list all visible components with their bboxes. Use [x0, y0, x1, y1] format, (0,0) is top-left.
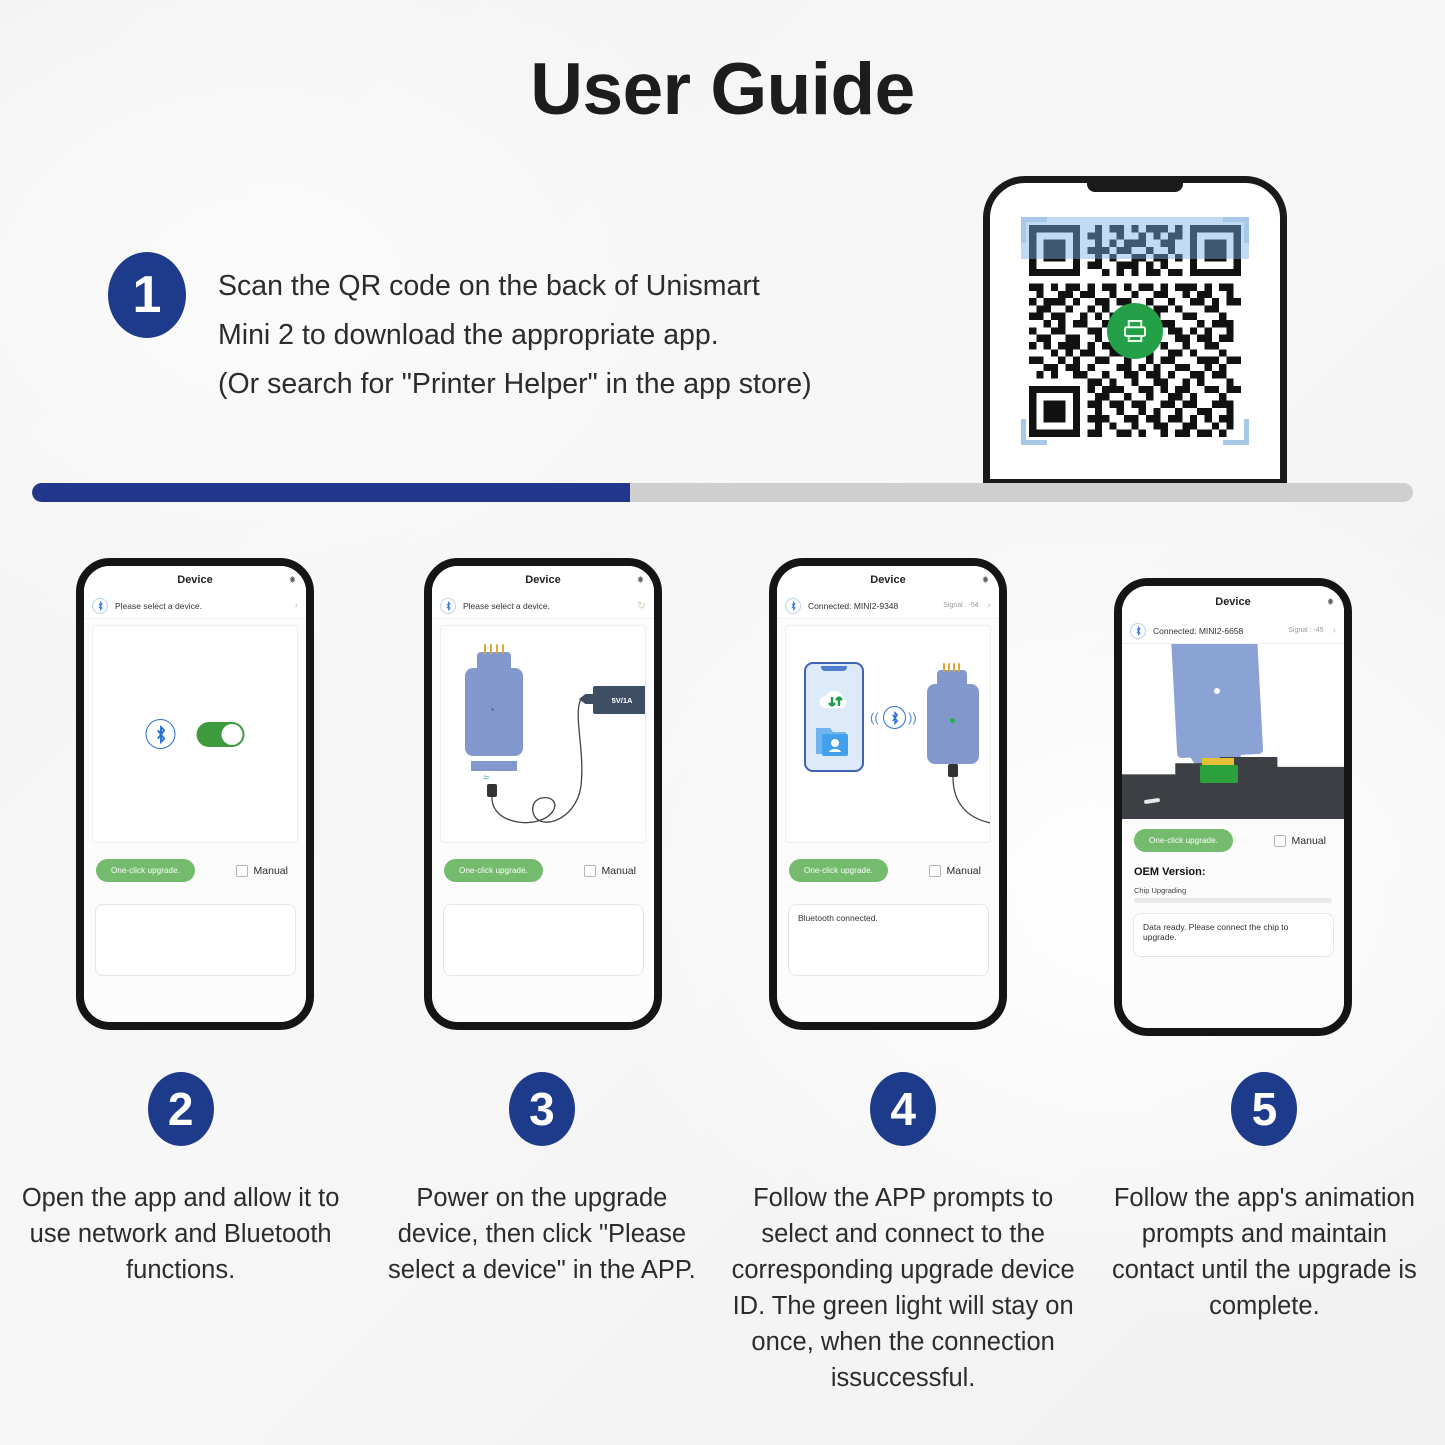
bluetooth-icon: [92, 598, 108, 614]
action-controls: One-click upgrade. Manual: [1122, 819, 1344, 852]
progress-bar-track[interactable]: [32, 483, 1413, 502]
step-4-caption: 4 Follow the APP prompts to select and c…: [723, 1072, 1084, 1396]
device-status-bar[interactable]: Connected: MINI2-6658 Signal : -45 ›: [1122, 618, 1344, 644]
step-5-caption: 5 Follow the app's animation prompts and…: [1084, 1072, 1445, 1396]
illustration-canvas: ≈ 5V/1A: [440, 625, 646, 843]
progress-bar-fill: [32, 483, 630, 502]
connected-device-label: Connected: MINI2-6658: [1153, 626, 1281, 636]
gear-icon[interactable]: [636, 571, 645, 589]
bluetooth-toggle-switch[interactable]: [197, 722, 245, 747]
device-status-label: Please select a device.: [463, 601, 630, 611]
app-title: Device: [870, 574, 905, 586]
device-status-label: Please select a device.: [115, 601, 286, 611]
manual-label: Manual: [947, 865, 981, 877]
gear-icon[interactable]: [1326, 593, 1335, 611]
illustration-canvas: (( )): [785, 625, 991, 843]
manual-checkbox[interactable]: [929, 865, 941, 877]
phone-volume-up-button: [1114, 692, 1115, 734]
log-output-box: [443, 904, 644, 976]
app-header: Device: [432, 566, 654, 593]
action-controls: One-click upgrade. Manual: [432, 843, 654, 882]
app-header: Device: [84, 566, 306, 593]
one-click-upgrade-button[interactable]: One-click upgrade.: [789, 859, 888, 882]
manual-mode-option[interactable]: Manual: [584, 865, 636, 877]
phone-volume-up-button: [424, 672, 425, 714]
bluetooth-icon-large: [146, 719, 176, 749]
upgrade-progress-bar: [1134, 898, 1332, 903]
phone-volume-up-button: [76, 672, 77, 714]
phone-power-button: [1351, 710, 1352, 768]
one-click-upgrade-button[interactable]: One-click upgrade.: [1134, 829, 1233, 852]
manual-checkbox[interactable]: [1274, 835, 1286, 847]
phone-power-button: [1286, 295, 1287, 347]
step-number-badge-3: 3: [509, 1072, 575, 1146]
log-output-box: [95, 904, 296, 976]
usb-cable: [786, 626, 991, 843]
manual-mode-option[interactable]: Manual: [236, 865, 288, 877]
phone-power-button: [313, 690, 314, 748]
gear-icon[interactable]: [981, 571, 990, 589]
bluetooth-icon: [440, 598, 456, 614]
step-5-text: Follow the app's animation prompts and m…: [1099, 1180, 1429, 1324]
phone-side-button: [76, 636, 77, 660]
oem-version-heading: OEM Version:: [1134, 866, 1332, 878]
one-click-upgrade-button[interactable]: One-click upgrade.: [96, 859, 195, 882]
app-title: Device: [177, 574, 212, 586]
step-2-caption: 2 Open the app and allow it to use netwo…: [0, 1072, 361, 1396]
bluetooth-icon: [1130, 623, 1146, 639]
chevron-right-icon[interactable]: ›: [1333, 625, 1336, 636]
phone-notch: [1087, 183, 1183, 192]
phone-mockup-step-5: Device Connected: MINI2-6658 Signal : -4…: [1114, 578, 1352, 1036]
phone-side-button: [983, 245, 984, 267]
device-status-bar[interactable]: Connected: MINI2-9348 Signal : -54 ›: [777, 593, 999, 619]
step-number-badge-5: 5: [1231, 1072, 1297, 1146]
action-controls: One-click upgrade. Manual: [84, 843, 306, 882]
phone-volume-down-button: [424, 726, 425, 768]
phone-screenshots-row: Device Please select a device. ›: [0, 552, 1445, 1032]
phone-volume-down-button: [983, 329, 984, 365]
step-3-text: Power on the upgrade device, then click …: [377, 1180, 707, 1288]
step-number-badge-1: 1: [108, 252, 186, 338]
chip-cartridge-illustration: [1171, 644, 1263, 758]
step-captions-row: 2 Open the app and allow it to use netwo…: [0, 1072, 1445, 1396]
chevron-right-icon[interactable]: ›: [295, 600, 298, 611]
page-title: User Guide: [0, 48, 1445, 131]
printer-icon: [1107, 303, 1163, 359]
step-number-badge-4: 4: [870, 1072, 936, 1146]
manual-label: Manual: [1292, 835, 1326, 847]
device-status-bar[interactable]: Please select a device. ↻: [432, 593, 654, 619]
step-1-line-3: (Or search for "Printer Helper" in the a…: [218, 360, 812, 409]
log-output-box: Bluetooth connected.: [788, 904, 989, 976]
signal-strength-label: Signal : -45: [1288, 627, 1323, 634]
manual-label: Manual: [602, 865, 636, 877]
gear-icon[interactable]: [288, 571, 297, 589]
manual-mode-option[interactable]: Manual: [929, 865, 981, 877]
usb-cable: [441, 626, 646, 843]
step-1-text: Scan the QR code on the back of Unismart…: [218, 252, 812, 409]
phone-side-button: [1114, 656, 1115, 680]
phone-mockup-step-3: Device Please select a device. ↻: [424, 558, 662, 1030]
device-status-bar[interactable]: Please select a device. ›: [84, 593, 306, 619]
phone-volume-down-button: [769, 726, 770, 768]
manual-label: Manual: [254, 865, 288, 877]
app-header: Device: [1122, 586, 1344, 618]
phone-side-button: [424, 636, 425, 660]
chip-contact-animation: [1122, 644, 1344, 819]
phone-side-button: [769, 636, 770, 660]
chip-contact-green: [1200, 765, 1238, 783]
manual-checkbox[interactable]: [236, 865, 248, 877]
app-header: Device: [777, 566, 999, 593]
phone-mockup-step-2: Device Please select a device. ›: [76, 558, 314, 1030]
phone-volume-down-button: [76, 726, 77, 768]
bluetooth-icon: [785, 598, 801, 614]
manual-mode-option[interactable]: Manual: [1274, 835, 1326, 847]
qr-code-phone-mockup: [983, 176, 1287, 486]
app-title: Device: [525, 574, 560, 586]
step-4-text: Follow the APP prompts to select and con…: [729, 1180, 1077, 1396]
step-1-line-2: Mini 2 to download the appropriate app.: [218, 311, 812, 360]
chip-upgrading-status: Chip Upgrading: [1134, 886, 1332, 895]
phone-power-button: [1006, 690, 1007, 748]
step-1-block: 1 Scan the QR code on the back of Unisma…: [108, 252, 812, 409]
log-output-box: Data ready. Please connect the chip to u…: [1133, 913, 1334, 957]
phone-volume-up-button: [769, 672, 770, 714]
one-click-upgrade-button[interactable]: One-click upgrade.: [444, 859, 543, 882]
oem-version-section: OEM Version: Chip Upgrading: [1122, 852, 1344, 903]
step-3-caption: 3 Power on the upgrade device, then clic…: [361, 1072, 722, 1396]
qr-code: [1029, 225, 1241, 437]
phone-power-button: [661, 690, 662, 748]
step-1-line-1: Scan the QR code on the back of Unismart: [218, 262, 812, 311]
phone-mockup-step-4: Device Connected: MINI2-9348 Signal : -5…: [769, 558, 1007, 1030]
chevron-right-icon[interactable]: ›: [988, 600, 991, 611]
phone-volume-up-button: [983, 281, 984, 317]
connected-device-label: Connected: MINI2-9348: [808, 601, 936, 611]
refresh-icon[interactable]: ↻: [637, 599, 646, 612]
step-2-text: Open the app and allow it to use network…: [16, 1180, 346, 1288]
action-controls: One-click upgrade. Manual: [777, 843, 999, 882]
step-number-badge-2: 2: [148, 1072, 214, 1146]
illustration-canvas: [92, 625, 298, 843]
manual-checkbox[interactable]: [584, 865, 596, 877]
phone-volume-down-button: [1114, 746, 1115, 788]
signal-strength-label: Signal : -54: [943, 602, 978, 609]
app-title: Device: [1215, 596, 1250, 608]
